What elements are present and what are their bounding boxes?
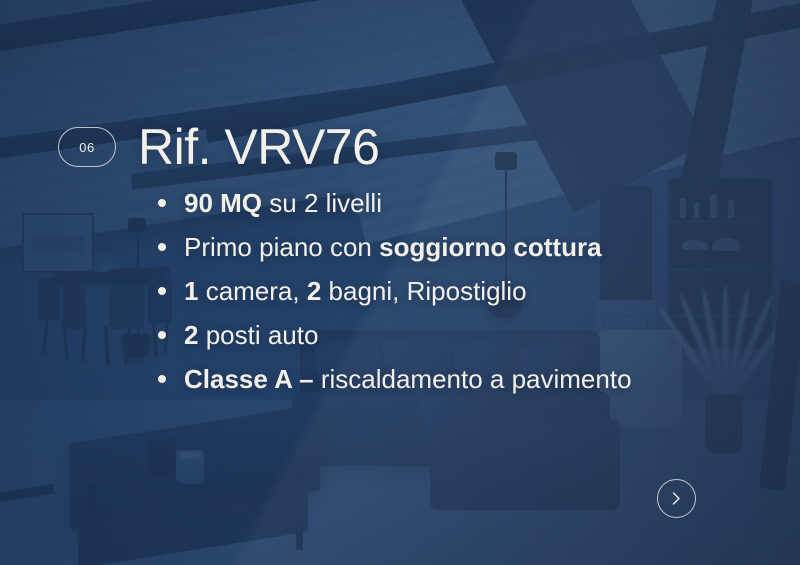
slide-number-badge: 06 bbox=[58, 127, 116, 167]
feature-rest: bagni, Ripostiglio bbox=[321, 276, 526, 306]
slide-content: 06 Rif. VRV76 90 MQ su 2 livelli Primo p… bbox=[0, 0, 800, 565]
feature-strong-2: 2 bbox=[307, 276, 321, 306]
feature-strong: 2 bbox=[184, 320, 198, 350]
next-slide-button[interactable] bbox=[657, 479, 696, 518]
property-slide: 06 Rif. VRV76 90 MQ su 2 livelli Primo p… bbox=[0, 0, 800, 565]
feature-strong: Classe A – bbox=[184, 364, 314, 394]
feature-pre: Primo piano con bbox=[184, 232, 379, 262]
feature-rest: su 2 livelli bbox=[262, 188, 382, 218]
slide-number-text: 06 bbox=[79, 140, 94, 155]
list-item: Classe A – riscaldamento a pavimento bbox=[158, 366, 632, 392]
chevron-right-icon bbox=[670, 491, 683, 506]
feature-mid: camera, bbox=[198, 276, 306, 306]
list-item: Primo piano con soggiorno cottura bbox=[158, 234, 632, 260]
feature-strong: soggiorno cottura bbox=[379, 232, 601, 262]
feature-rest: riscaldamento a pavimento bbox=[314, 364, 632, 394]
list-item: 90 MQ su 2 livelli bbox=[158, 190, 632, 216]
page-title: Rif. VRV76 bbox=[138, 122, 379, 172]
feature-strong: 1 bbox=[184, 276, 198, 306]
title-row: 06 Rif. VRV76 bbox=[58, 122, 379, 172]
feature-strong: 90 MQ bbox=[184, 188, 262, 218]
feature-list: 90 MQ su 2 livelli Primo piano con soggi… bbox=[158, 190, 632, 410]
feature-rest: posti auto bbox=[198, 320, 318, 350]
list-item: 1 camera, 2 bagni, Ripostiglio bbox=[158, 278, 632, 304]
list-item: 2 posti auto bbox=[158, 322, 632, 348]
